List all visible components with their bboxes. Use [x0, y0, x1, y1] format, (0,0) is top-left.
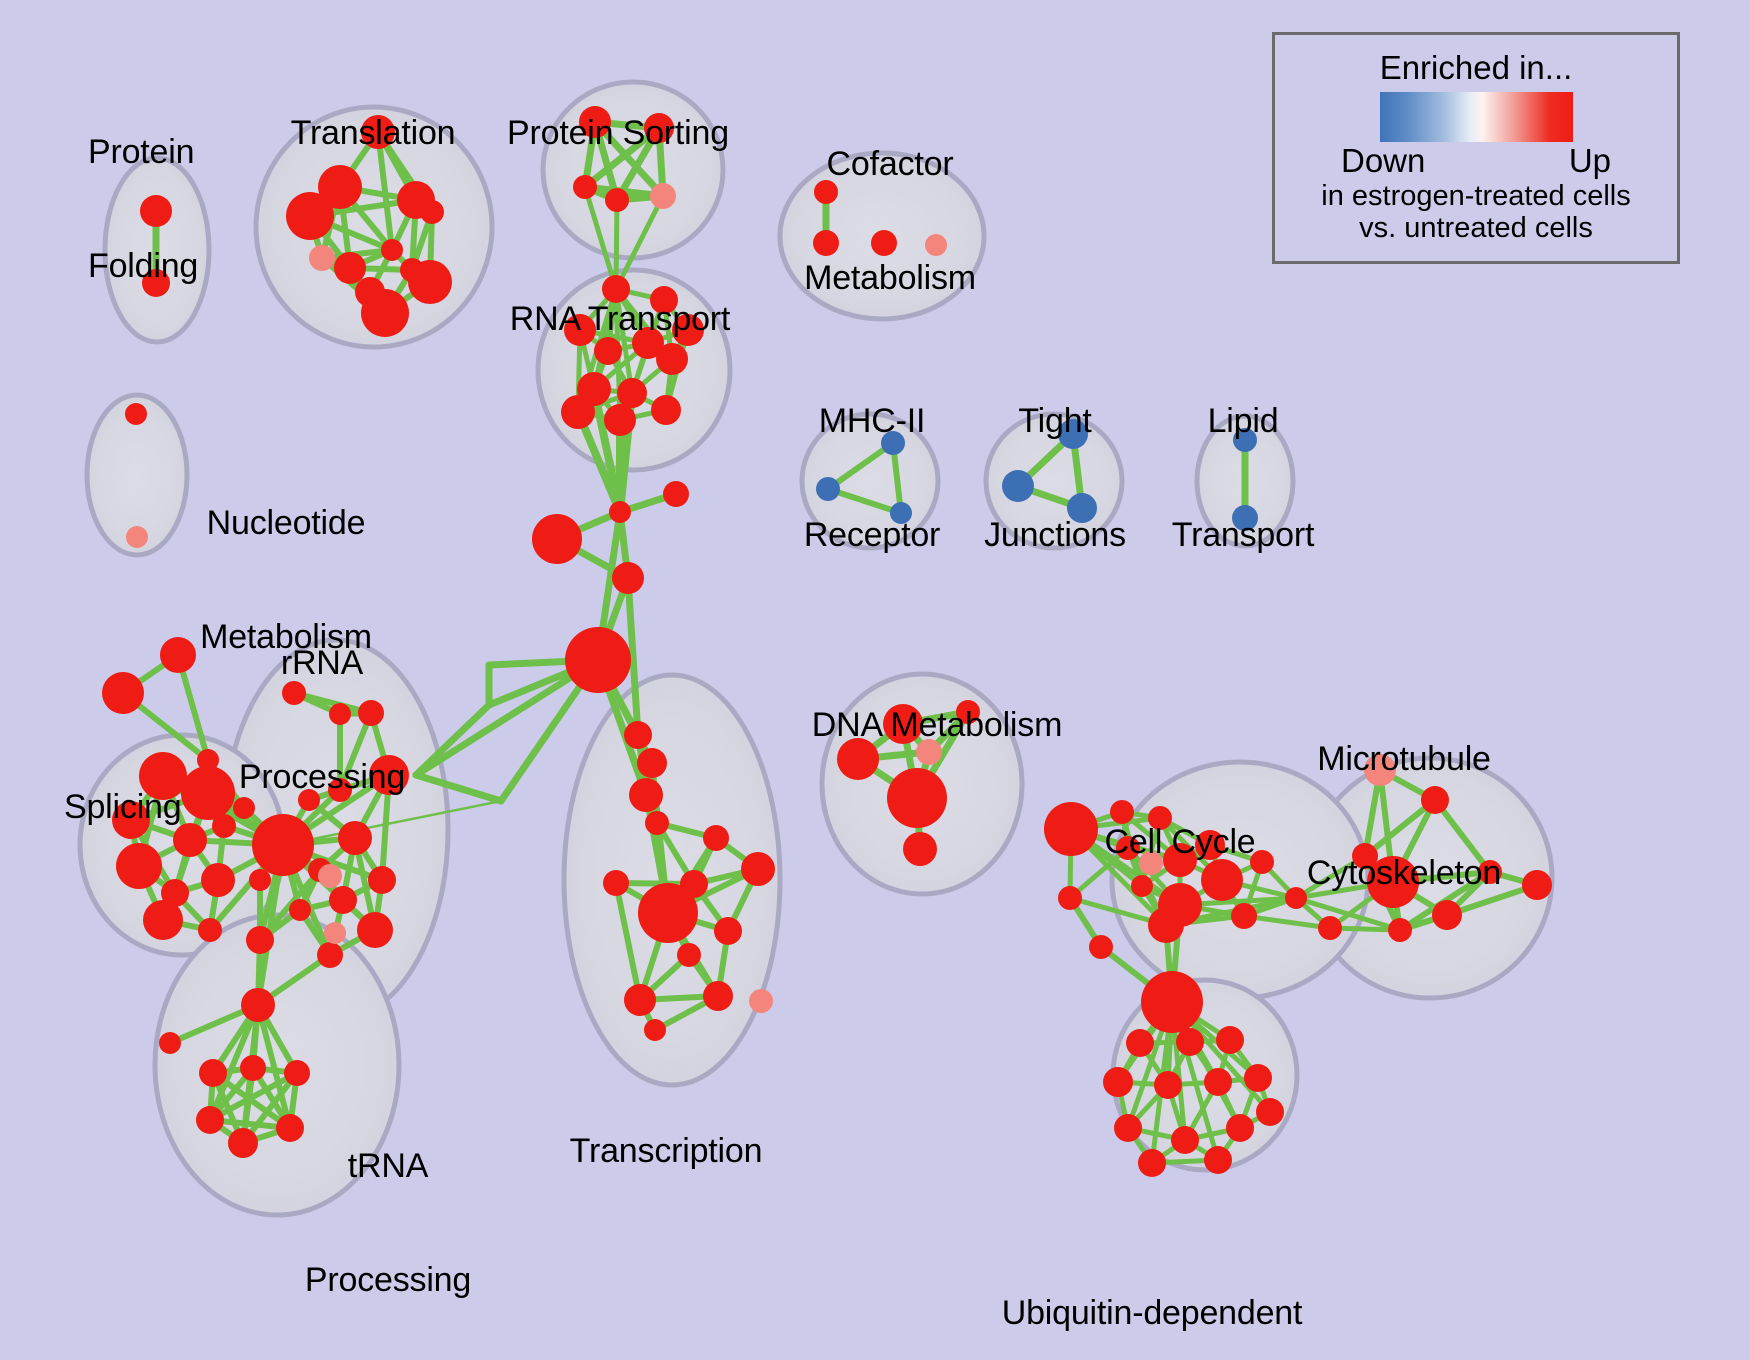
- enrichment-map-figure: Protein Folding Translation Protein Sort…: [0, 0, 1750, 1360]
- legend-subtitle-line-1: in estrogen-treated cells: [1321, 180, 1631, 212]
- cluster-label-tight-junctions: Tight Junctions: [984, 326, 1126, 631]
- cluster-label-microtubule-cytoskeleton: Microtubule Cytoskeleton: [1307, 664, 1501, 969]
- legend-high-label: Up: [1569, 144, 1611, 179]
- cluster-label-rna-transport: RNA Transport: [510, 224, 730, 414]
- cluster-label-splicing: Splicing: [64, 712, 181, 902]
- legend-low-label: Down: [1341, 144, 1425, 179]
- cluster-label-lipid-transport: Lipid Transport: [1172, 326, 1314, 631]
- legend-subtitle-line-2: vs. untreated cells: [1321, 212, 1631, 244]
- cluster-label-cell-cycle: Cell Cycle: [1104, 747, 1255, 937]
- cluster-label-protein-folding: Protein Folding: [88, 57, 198, 362]
- legend-endpoint-labels: Down Up: [1341, 144, 1611, 179]
- cluster-label-transcription: Transcription: [570, 1056, 763, 1246]
- cluster-label-protein-sorting: Protein Sorting: [507, 38, 729, 228]
- cluster-label-mhc-ii-receptor: MHC-II Receptor: [804, 326, 940, 631]
- legend-title: Enriched in...: [1380, 51, 1573, 84]
- cluster-label-trna-processing: tRNA Processing: [305, 1071, 471, 1360]
- cluster-label-rrna-processing: rRNA Processing: [239, 568, 405, 873]
- legend-box: Enriched in... Down Up in estrogen-treat…: [1272, 32, 1680, 264]
- cluster-label-ubiquitin-protein-degradation: Ubiquitin-dependent Protein Degradation: [1002, 1218, 1303, 1360]
- cluster-label-translation: Translation: [291, 38, 456, 228]
- cluster-label-dna-metabolism: DNA Metabolism: [812, 630, 1062, 820]
- legend-subtitle: in estrogen-treated cells vs. untreated …: [1321, 180, 1631, 245]
- legend-color-gradient-bar: [1380, 92, 1573, 142]
